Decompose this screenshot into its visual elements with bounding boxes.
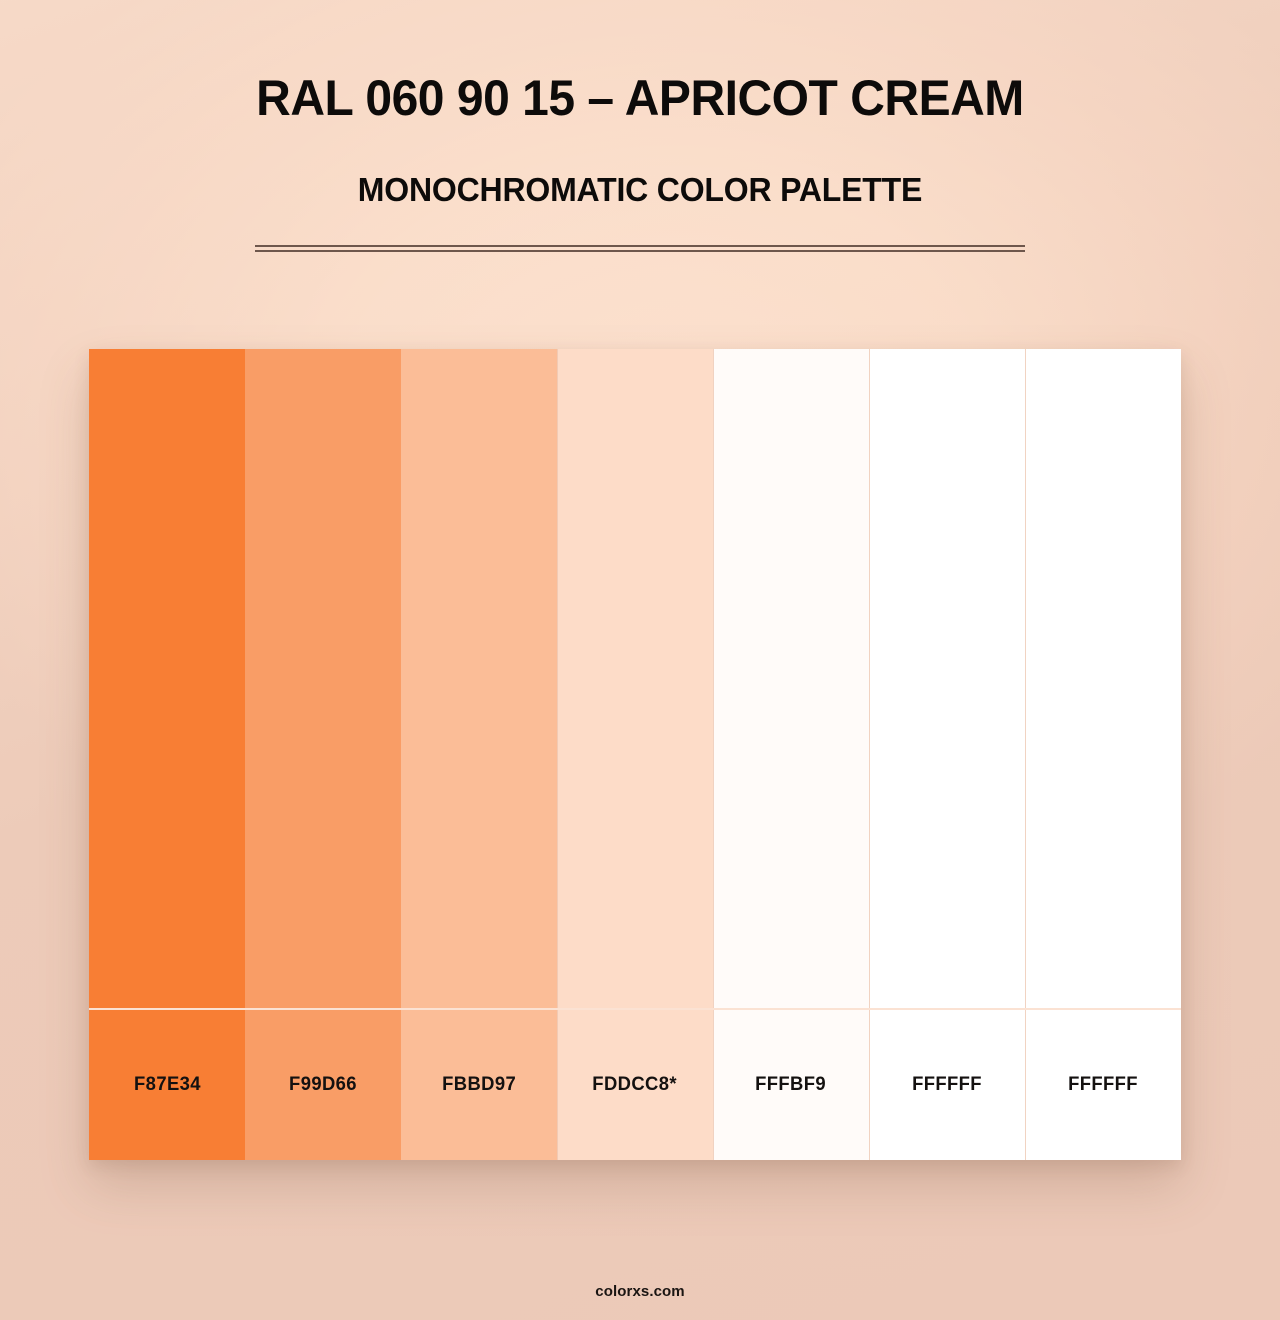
color-hex-label: FFFFFF [912, 1074, 982, 1096]
color-label-cell[interactable]: FFFFFF [1025, 1010, 1181, 1160]
color-label-cell[interactable]: F87E34 [89, 1010, 245, 1160]
page-subtitle: MONOCHROMATIC COLOR PALETTE [19, 125, 1261, 209]
color-label-cell[interactable]: FFFBF9 [713, 1010, 869, 1160]
color-label-cell[interactable]: FFFFFF [869, 1010, 1025, 1160]
color-swatch[interactable] [557, 349, 713, 1008]
color-swatch[interactable] [713, 349, 869, 1008]
color-swatch[interactable] [1025, 349, 1181, 1008]
color-hex-label: FBBD97 [442, 1074, 516, 1096]
color-palette: F87E34 F99D66 FBBD97 FDDCC8* FFFBF9 FFFF… [89, 349, 1181, 1160]
color-swatch[interactable] [89, 349, 245, 1008]
color-swatch[interactable] [245, 349, 401, 1008]
page-footer: colorxs.com [0, 1283, 1280, 1301]
divider-line-bottom [255, 250, 1025, 252]
color-label-cell[interactable]: FBBD97 [401, 1010, 557, 1160]
color-hex-label: FDDCC8* [593, 1074, 678, 1096]
swatch-label-row: F87E34 F99D66 FBBD97 FDDCC8* FFFBF9 FFFF… [89, 1008, 1181, 1160]
color-hex-label: F87E34 [134, 1074, 201, 1096]
color-label-cell[interactable]: FDDCC8* [557, 1010, 713, 1160]
color-swatch[interactable] [401, 349, 557, 1008]
header-divider [255, 245, 1025, 252]
page-header: RAL 060 90 15 – APRICOT CREAM MONOCHROMA… [0, 72, 1280, 252]
page-title: RAL 060 90 15 – APRICOT CREAM [26, 72, 1255, 125]
swatch-row [89, 349, 1181, 1008]
color-hex-label: F99D66 [289, 1074, 357, 1096]
site-credit: colorxs.com [595, 1283, 684, 1300]
color-label-cell[interactable]: F99D66 [245, 1010, 401, 1160]
color-swatch[interactable] [869, 349, 1025, 1008]
color-hex-label: FFFFFF [1068, 1074, 1138, 1096]
color-hex-label: FFFBF9 [756, 1074, 827, 1096]
